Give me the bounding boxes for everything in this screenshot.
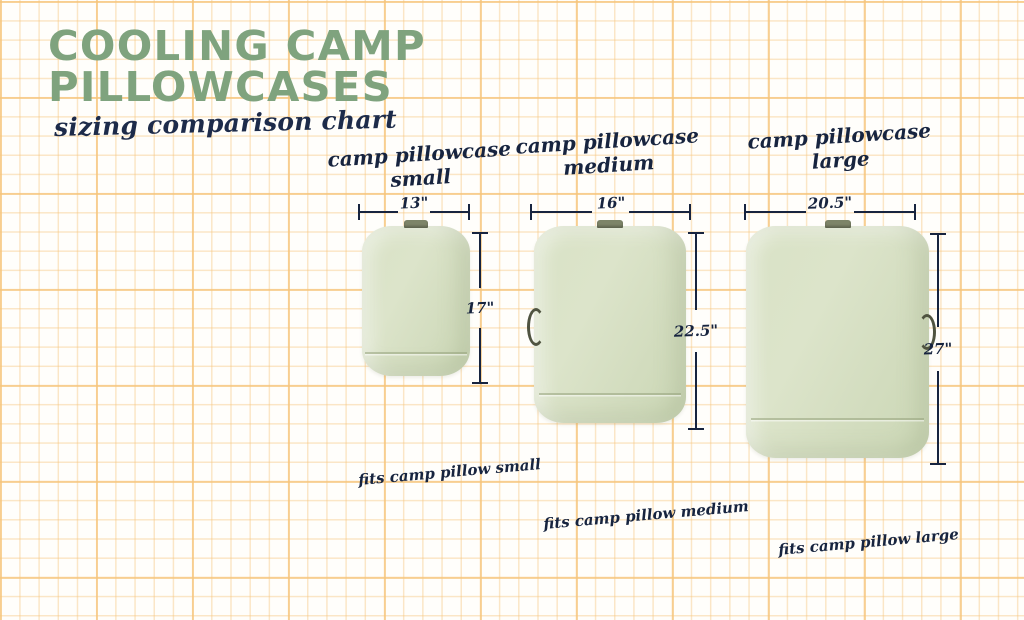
dim-bar-top-large: [937, 235, 939, 327]
height-dimension-medium: 22.5": [688, 232, 704, 430]
weight-label-small: 2 oz: [368, 401, 472, 420]
width-value-medium: 16": [592, 193, 629, 212]
fits-caption-medium: fits camp pillow medium: [543, 497, 750, 533]
dim-cap-bottom-medium: [688, 428, 704, 430]
product-label-small: camp pillowcase small: [324, 137, 517, 196]
dim-bar-bottom-medium: [695, 352, 697, 428]
hang-tab-icon-medium: [597, 220, 623, 228]
pillowcase-medium: [534, 226, 686, 423]
dim-bar-top-medium: [695, 234, 697, 310]
dim-bar-right-large: [854, 211, 914, 213]
width-dimension-small: 13": [358, 203, 470, 219]
weight-label-medium: 3 oz: [546, 448, 677, 467]
seam-line-large: [751, 418, 923, 420]
dim-bar-bottom-small: [479, 328, 481, 382]
side-loop-icon-medium: [527, 308, 545, 346]
weight-label-large: 6 oz: [760, 480, 917, 500]
pillow-small: 2 oz: [368, 362, 472, 474]
fits-caption-small: fits camp pillow small: [358, 455, 542, 489]
fits-caption-large: fits camp pillow large: [778, 525, 960, 559]
dim-cap-right-small: [468, 204, 470, 220]
dim-cap-right-large: [914, 204, 916, 220]
height-value-medium: 22.5": [671, 318, 720, 344]
width-dimension-medium: 16": [530, 203, 691, 219]
dim-bar-bottom-large: [937, 371, 939, 463]
dim-bar-right-medium: [629, 211, 689, 213]
pillowcase-small: [362, 226, 470, 376]
product-label-large: camp pillowcase large: [739, 119, 942, 179]
dim-bar-left-small: [360, 211, 398, 213]
dim-bar-left-large: [746, 211, 806, 213]
dim-bar-right-small: [430, 211, 468, 213]
hang-tab-icon-small: [404, 220, 428, 228]
height-value-small: 17": [463, 295, 497, 320]
page-title: COOLING CAMP PILLOWCASES: [48, 26, 487, 107]
height-value-large: 27": [921, 336, 955, 361]
width-value-large: 20.5": [804, 193, 857, 213]
seam-line-small: [365, 352, 467, 354]
width-value-small: 13": [395, 193, 432, 212]
dim-cap-right-medium: [689, 204, 691, 220]
height-dimension-small: 17": [472, 232, 488, 384]
width-dimension-large: 20.5": [744, 203, 916, 219]
dim-cap-bottom-small: [472, 382, 488, 384]
product-label-medium: camp pillowcase medium: [512, 124, 705, 183]
hang-tab-icon-large: [825, 220, 851, 228]
pillowcase-large: [746, 226, 929, 458]
pillow-medium: 3 oz: [546, 410, 677, 517]
height-dimension-large: 27": [930, 233, 946, 465]
dim-bar-left-medium: [532, 211, 592, 213]
dim-cap-bottom-large: [930, 463, 946, 465]
title-block: COOLING CAMP PILLOWCASES sizing comparis…: [48, 26, 478, 142]
sizing-comparison-chart: COOLING CAMP PILLOWCASES sizing comparis…: [0, 0, 1024, 620]
seam-line-medium: [539, 393, 682, 395]
dim-bar-top-small: [479, 234, 481, 288]
